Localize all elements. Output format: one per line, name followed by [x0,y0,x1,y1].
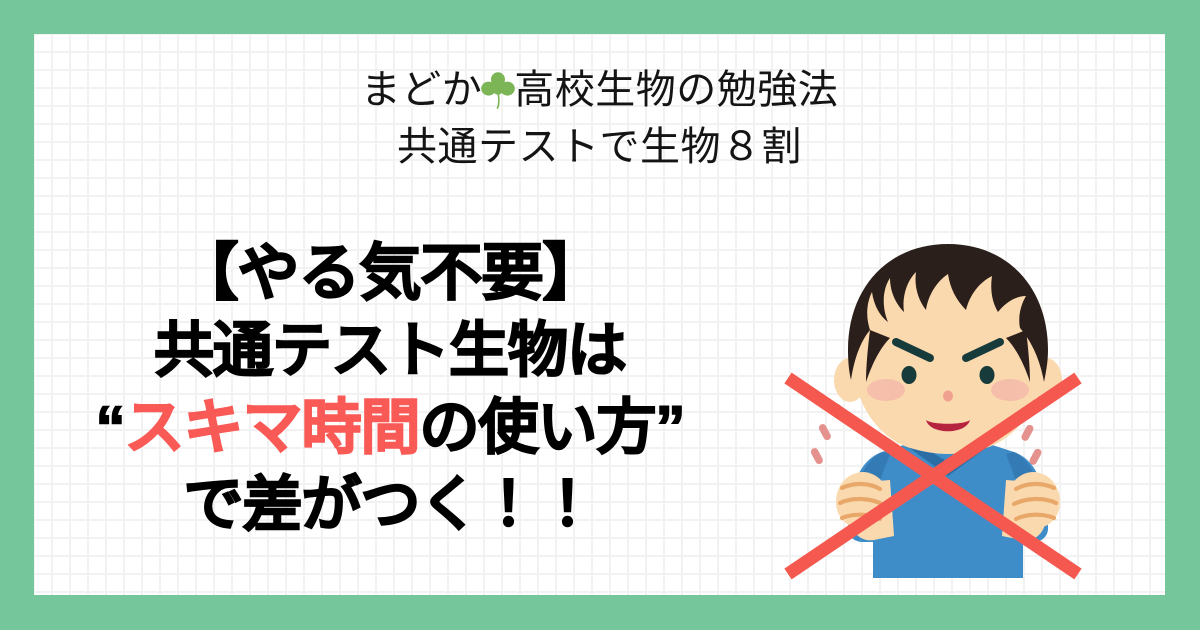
grid-paper-background: まどか 高校生物の勉強法 共通テストで生物８割 【やる気不要】 共通テスト生物は… [34,34,1165,595]
headline-block: 【やる気不要】 共通テスト生物は “スキマ時間の使い方” で差がつく！！ [40,234,740,544]
headline-line-1: 【やる気不要】 [40,234,740,313]
headline-line-2: 共通テスト生物は [40,313,740,390]
header-text-after-clover: 高校生物の勉強法 [514,68,838,112]
header-line-2: 共通テストで生物８割 [34,119,1165,176]
header-line-1: まどか 高校生物の勉強法 [34,62,1165,119]
headline-line3-black: の使い方 [420,394,656,461]
blog-name-header: まどか 高校生物の勉強法 共通テストで生物８割 [34,62,1165,176]
headline-line-4: で差がつく！！ [40,467,740,544]
nose [943,391,953,402]
headline-highlight-red: スキマ時間 [125,394,420,461]
illustration-determined-boy-crossed-out [778,230,1118,595]
headline-open-quote: “ [96,394,125,461]
header-text-before-clover: まどか [361,68,483,112]
thumbnail-canvas: まどか 高校生物の勉強法 共通テストで生物８割 【やる気不要】 共通テスト生物は… [0,0,1200,630]
clover-icon [481,69,515,107]
headline-close-quote: ” [656,394,685,461]
headline-line-3: “スキマ時間の使い方” [40,390,740,467]
